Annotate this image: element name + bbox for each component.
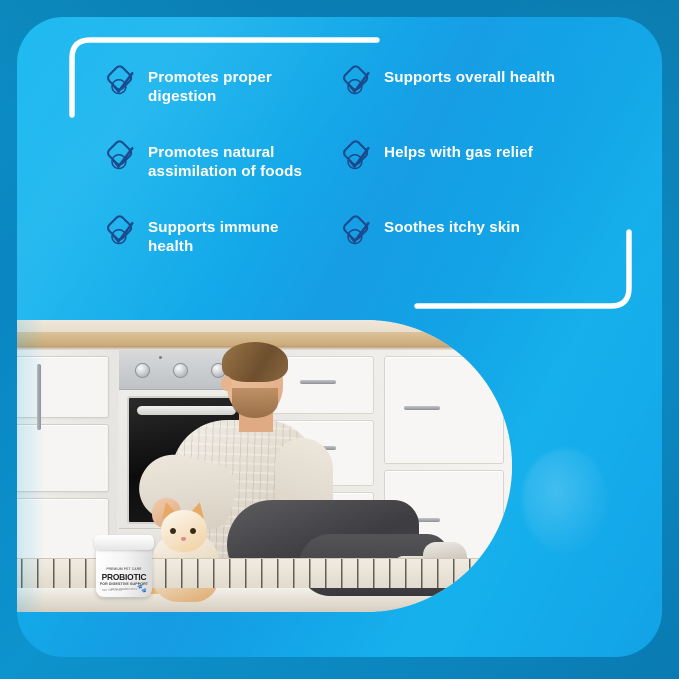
jar-body: PREMIUM PET CARE PROBIOTIC FOR DIGESTIVE… [96,546,152,597]
benefit-item[interactable]: Supports overall health [325,63,662,138]
check-diamond-icon [339,68,372,101]
benefit-item[interactable]: Soothes itchy skin [325,213,662,288]
check-diamond-icon [103,218,136,251]
lifestyle-photo: PREMIUM PET CARE PROBIOTIC FOR DIGESTIVE… [17,320,512,612]
benefit-label: Supports immune health [148,217,325,257]
panel-accent-blob [522,449,608,553]
benefits-grid: Promotes proper digestion Promotes natur… [17,63,662,288]
product-jar: PREMIUM PET CARE PROBIOTIC FOR DIGESTIVE… [96,535,152,597]
benefit-item[interactable]: Promotes proper digestion [17,63,325,138]
benefits-panel: Promotes proper digestion Promotes natur… [17,17,662,657]
paw-icon: 🐾 [137,584,147,593]
benefit-label: Soothes itchy skin [384,217,520,237]
benefit-item[interactable]: Supports immune health [17,213,325,288]
check-diamond-icon [339,143,372,176]
person-hair [222,342,288,382]
person-ear [221,376,232,391]
check-diamond-icon [339,218,372,251]
cat-nose [181,537,186,541]
cat-head [161,510,207,552]
jar-brand-line: PREMIUM PET CARE [96,567,152,571]
outer-frame: Promotes proper digestion Promotes natur… [0,0,679,679]
jar-product-title: PROBIOTIC [96,572,152,582]
benefit-label: Promotes proper digestion [148,67,325,107]
jar-net-weight: NET WT 5.3 OZ [102,588,122,592]
person-beard [232,388,278,418]
jar-lid [94,535,154,550]
benefits-right-column: Supports overall health Helps with gas r… [325,63,662,288]
rug-pattern [17,559,512,588]
floor-rug [17,558,512,588]
benefit-label: Supports overall health [384,67,555,87]
benefits-left-column: Promotes proper digestion Promotes natur… [17,63,325,288]
cat-eye [190,528,196,534]
benefit-item[interactable]: Promotes natural assimilation of foods [17,138,325,213]
benefit-label: Helps with gas relief [384,142,533,162]
benefit-label: Promotes natural assimilation of foods [148,142,325,182]
check-diamond-icon [103,143,136,176]
photo-scene: PREMIUM PET CARE PROBIOTIC FOR DIGESTIVE… [17,320,512,612]
benefit-item[interactable]: Helps with gas relief [325,138,662,213]
check-diamond-icon [103,68,136,101]
cat-eye [170,528,176,534]
